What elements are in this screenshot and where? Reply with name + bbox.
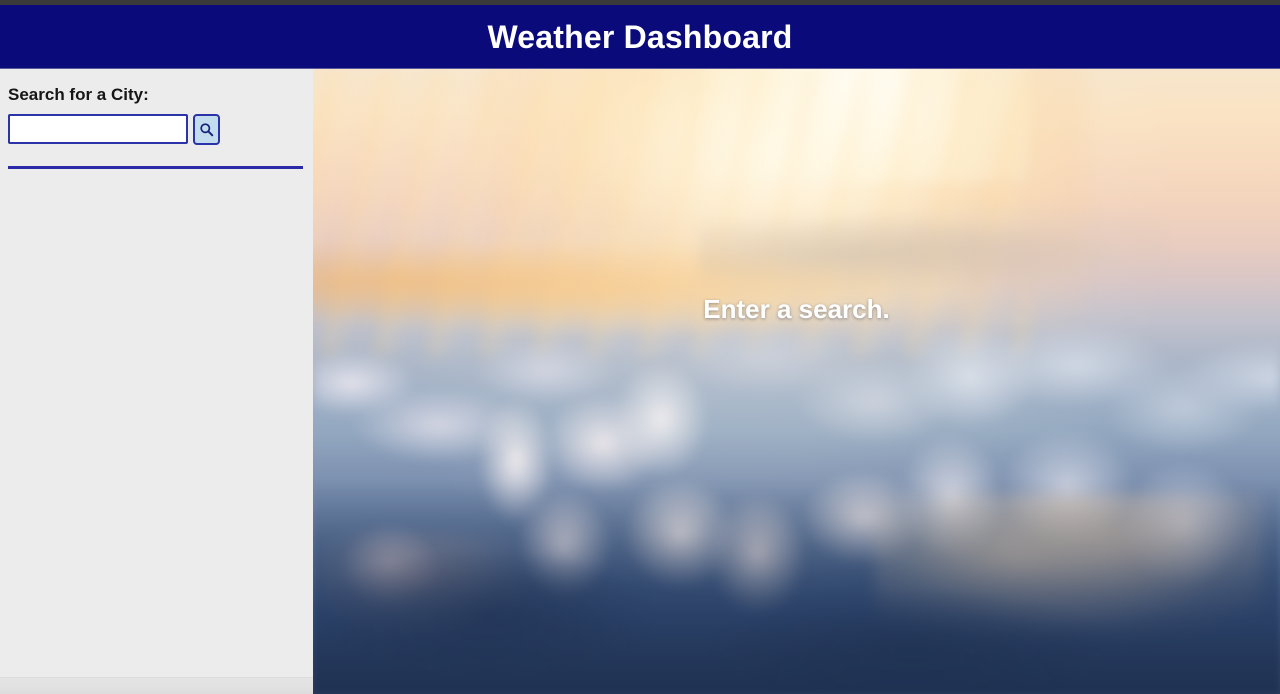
search-input[interactable] bbox=[8, 114, 188, 144]
sidebar-horizontal-scrollbar[interactable] bbox=[0, 677, 313, 694]
search-city-label: Search for a City: bbox=[8, 86, 303, 105]
search-form bbox=[8, 114, 303, 145]
search-sidebar: Search for a City: bbox=[0, 69, 313, 694]
app-header: Weather Dashboard bbox=[0, 5, 1280, 69]
search-icon bbox=[199, 122, 214, 137]
main-panel: Enter a search. bbox=[313, 69, 1280, 694]
weather-dashboard-app: Weather Dashboard Search for a City: bbox=[0, 0, 1280, 694]
search-button[interactable] bbox=[193, 114, 220, 145]
sidebar-divider bbox=[8, 166, 303, 169]
page-title: Weather Dashboard bbox=[487, 21, 792, 53]
enter-a-search-message: Enter a search. bbox=[313, 294, 1280, 325]
lower-cloud-shadow bbox=[313, 482, 1280, 694]
